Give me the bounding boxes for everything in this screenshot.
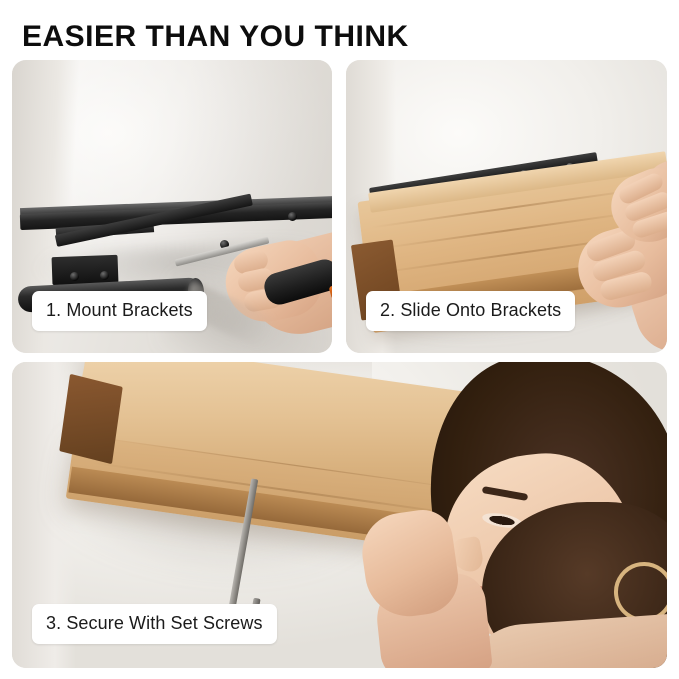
screw-hole xyxy=(100,271,109,280)
instruction-infographic: EASIER THAN YOU THINK xyxy=(0,0,679,679)
step-3-caption: 3. Secure With Set Screws xyxy=(32,604,277,644)
page-title: EASIER THAN YOU THINK xyxy=(22,20,409,54)
bracket-wall-plate xyxy=(52,255,119,285)
screw-hole xyxy=(70,272,79,281)
screw-hole xyxy=(288,212,297,221)
step-1-panel: 1. Mount Brackets xyxy=(12,60,332,353)
step-2-caption: 2. Slide Onto Brackets xyxy=(366,291,575,331)
shelf-end-grain xyxy=(59,374,123,464)
step-2-panel: 2. Slide Onto Brackets xyxy=(346,60,667,353)
step-3-panel: 3. Secure With Set Screws xyxy=(12,362,667,668)
step-1-caption: 1. Mount Brackets xyxy=(32,291,207,331)
